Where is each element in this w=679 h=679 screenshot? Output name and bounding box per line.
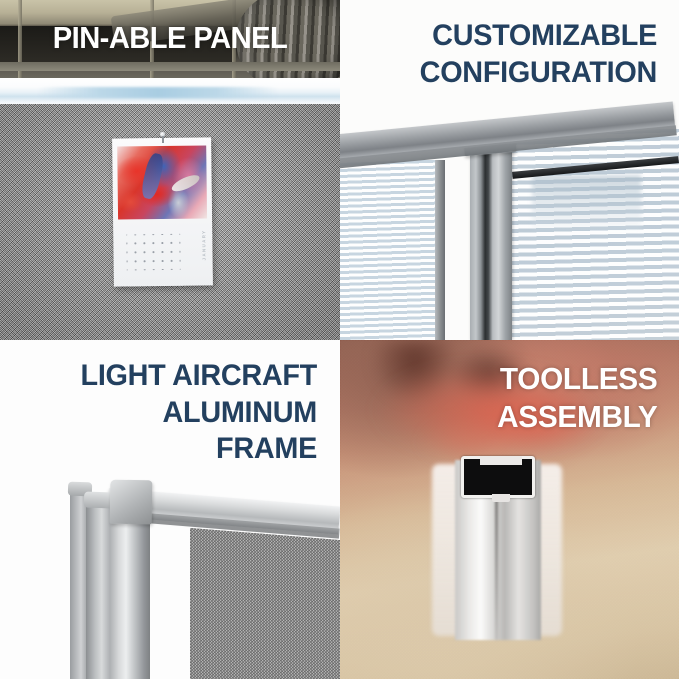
product-feature-infographic: JANUARY PIN-ABLE PANEL CUSTOMIZABLE CONF…: [0, 0, 679, 679]
aluminum-vertical-post-1: [110, 518, 150, 679]
aluminum-corner-joint: [110, 480, 153, 525]
fabric-infill-panel: [190, 528, 340, 679]
aluminum-vertical-post-2: [86, 500, 112, 679]
pinned-wall-calendar: JANUARY: [112, 137, 213, 286]
calendar-artwork: [117, 145, 207, 219]
spiral-duct-icon: [229, 0, 340, 80]
frame-mullion: [435, 160, 445, 340]
glass-partition-photo: [340, 108, 679, 340]
quadrant-toolless-assembly: TOOLLESS ASSEMBLY: [340, 340, 679, 679]
ceiling-conduit-icon: [18, 0, 22, 80]
extrusion-channel-profile: [461, 456, 535, 498]
calendar-month-label: JANUARY: [201, 229, 206, 260]
venetian-blinds-left: [340, 160, 441, 340]
quadrant-customizable-configuration: CUSTOMIZABLE CONFIGURATION: [340, 0, 679, 340]
quadrant-light-aircraft-aluminum-frame: LIGHT AIRCRAFT ALUMINUM FRAME: [0, 340, 340, 679]
hand-highlight-glow: [374, 364, 604, 456]
industrial-ceiling-photo: [0, 0, 340, 80]
caption-customizable-configuration: CUSTOMIZABLE CONFIGURATION: [369, 18, 657, 91]
quadrant-pin-able-panel: JANUARY PIN-ABLE PANEL: [0, 0, 340, 340]
calendar-date-grid: [122, 230, 185, 275]
extrusion-seam: [495, 498, 498, 640]
aluminum-frame-photo: [0, 340, 340, 679]
corner-post-extrusion: [470, 146, 512, 340]
fluorescent-light-fixture: [0, 78, 340, 106]
push-pin-icon: [158, 132, 167, 143]
